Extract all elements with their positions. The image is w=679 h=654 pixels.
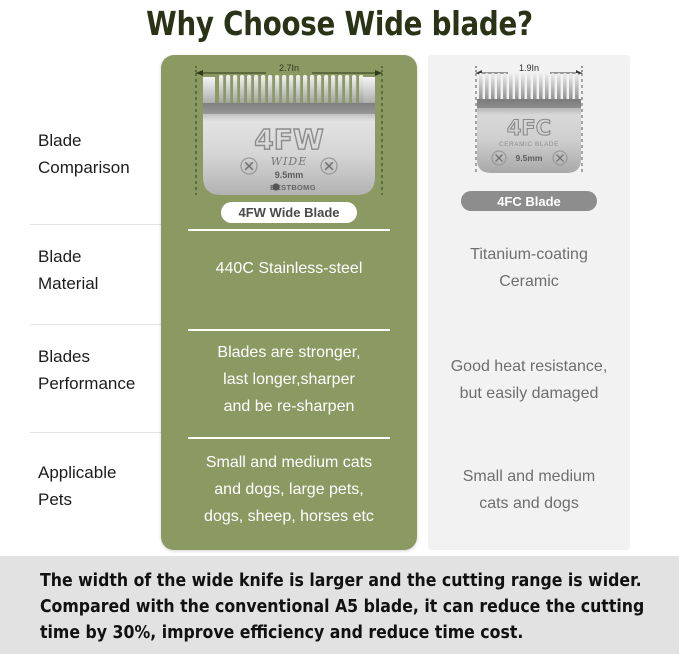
ceramic-blade-column: 1.9In [428, 55, 630, 550]
row-label-applicable-pets: Applicable Pets [38, 459, 116, 513]
wide-performance-cell: Blades are stronger, last longer,sharper… [161, 339, 417, 420]
ceramic-pets-line2: cats and dogs [428, 490, 630, 517]
brand-mark-icon [272, 183, 279, 190]
page-title: Why Choose Wide blade? [54, 0, 624, 46]
comparison-table: Blade Comparison Blade Material Blades P… [0, 50, 679, 550]
ceramic-pets-cell: Small and medium cats and dogs [428, 463, 630, 517]
ceramic-size-text: 9.5mm [516, 153, 543, 163]
ceramic-sub-text: CERAMIC BLADE [499, 141, 559, 148]
wide-dimension-label: 2.7In [194, 63, 384, 73]
row-label-line2: Performance [38, 370, 135, 397]
ceramic-model-text: 4FC [507, 116, 551, 140]
bottom-caption-text: The width of the wide knife is larger an… [40, 568, 603, 646]
row-label-blades-performance: Blades Performance [38, 343, 135, 397]
wide-size-text: 9.5mm [275, 170, 304, 180]
row-separator [30, 324, 161, 325]
ceramic-material-cell: Titanium-coating Ceramic [428, 241, 630, 295]
wide-blade-column: 2.7In [161, 55, 417, 550]
caption-line1: The width of the wide knife is larger an… [40, 568, 603, 594]
row-separator [30, 432, 161, 433]
caption-line3: time by 30%, improve efficiency and redu… [40, 620, 603, 646]
row-label-line2: Material [38, 270, 98, 297]
row-label-line2: Comparison [38, 154, 130, 181]
ceramic-dimension-label: 1.9In [474, 63, 584, 73]
wide-performance-line2: last longer,sharper [161, 366, 417, 393]
row-separator [188, 329, 390, 331]
ceramic-performance-line2: but easily damaged [428, 380, 630, 407]
row-label-line1: Applicable [38, 459, 116, 486]
wide-sub-text: WIDE [271, 155, 308, 168]
ceramic-material-line2: Ceramic [428, 268, 630, 295]
row-label-blade-comparison: Blade Comparison [38, 127, 130, 181]
row-label-line2: Pets [38, 486, 116, 513]
row-label-line1: Blade [38, 243, 98, 270]
wide-model-text: 4FW [254, 123, 324, 156]
wide-material-text: 440C Stainless-steel [161, 255, 417, 282]
wide-blade-illustration: 4FW WIDE 9.5mm BESTBOMG [194, 73, 384, 201]
row-separator [188, 437, 390, 439]
row-separator [30, 224, 161, 225]
ceramic-performance-cell: Good heat resistance, but easily damaged [428, 353, 630, 407]
wide-performance-line1: Blades are stronger, [161, 339, 417, 366]
wide-performance-line3: and be re-sharpen [161, 393, 417, 420]
bottom-caption-band: The width of the wide knife is larger an… [0, 556, 679, 654]
wide-pets-line1: Small and medium cats [161, 449, 417, 476]
ceramic-material-line1: Titanium-coating [428, 241, 630, 268]
wide-pets-line2: and dogs, large pets, [161, 476, 417, 503]
wide-pets-line3: dogs, sheep, horses etc [161, 503, 417, 530]
row-separator [188, 229, 390, 231]
ceramic-performance-line1: Good heat resistance, [428, 353, 630, 380]
ceramic-blade-pill: 4FC Blade [461, 191, 597, 211]
wide-pets-cell: Small and medium cats and dogs, large pe… [161, 449, 417, 530]
row-label-blade-material: Blade Material [38, 243, 98, 297]
infographic-page: Why Choose Wide blade? Blade Comparison … [0, 0, 679, 654]
row-label-column: Blade Comparison Blade Material Blades P… [30, 55, 161, 550]
row-label-line1: Blade [38, 127, 130, 154]
wide-material-cell: 440C Stainless-steel [161, 255, 417, 282]
row-label-line1: Blades [38, 343, 135, 370]
caption-line2: Compared with the conventional A5 blade,… [40, 594, 603, 620]
ceramic-blade-illustration: 4FC CERAMIC BLADE 9.5mm [474, 73, 584, 179]
ceramic-pets-line1: Small and medium [428, 463, 630, 490]
wide-blade-pill: 4FW Wide Blade [221, 202, 357, 223]
